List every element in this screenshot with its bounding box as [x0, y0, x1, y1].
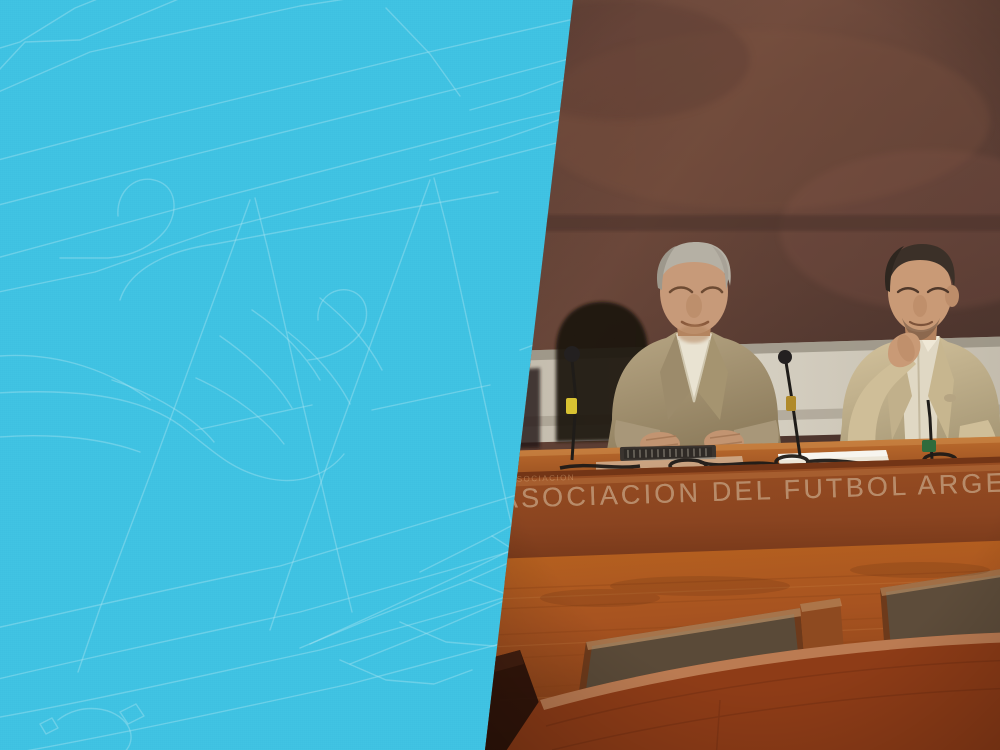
graphic-canvas: ASOCIACION ASOCIACION DEL FUTBOL ARGENTI…	[0, 0, 1000, 750]
